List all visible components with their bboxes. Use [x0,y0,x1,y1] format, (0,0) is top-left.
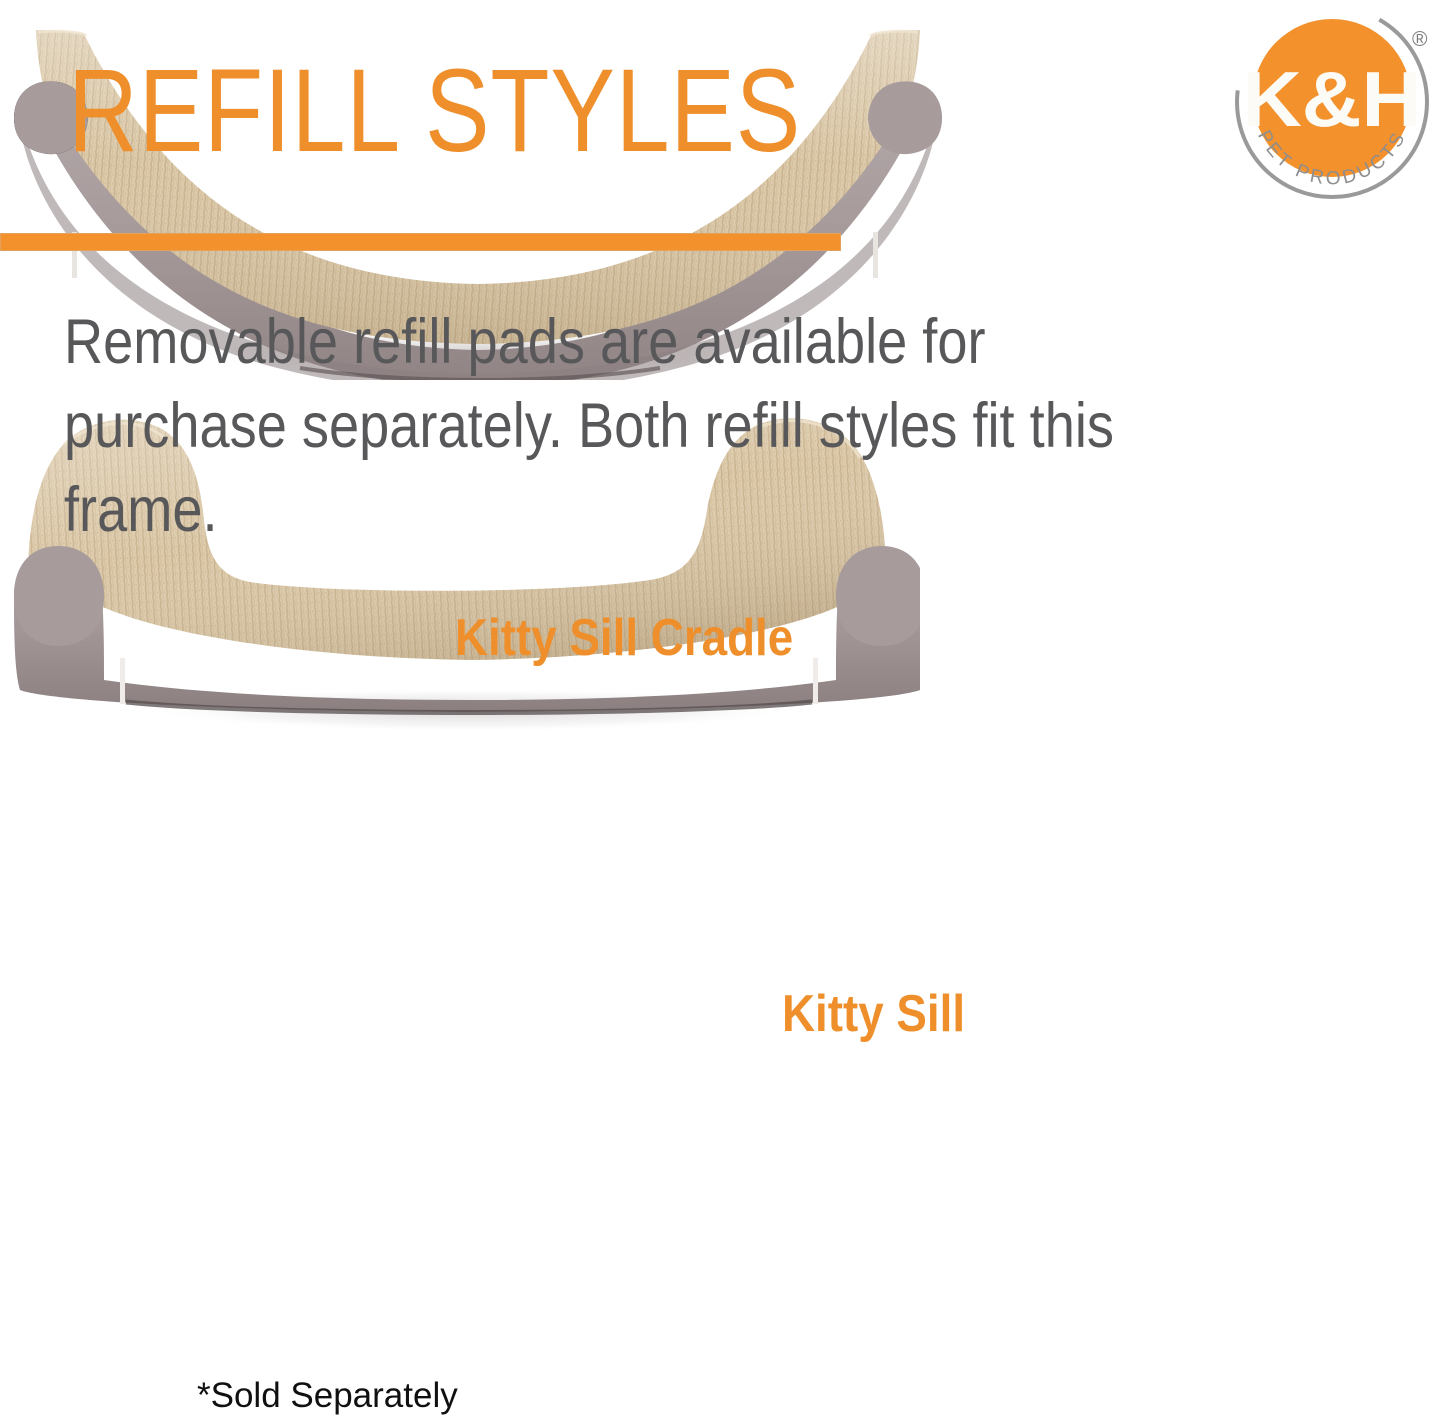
cradle-right-cap [868,81,942,154]
registered-mark-icon: ® [1412,28,1428,51]
infographic-page: REFILL STYLES K&H PET PRODUCTS ® Removab… [0,0,1445,1426]
sill-left-cap [14,546,104,646]
product-label-kitty-sill-cradle: Kitty Sill Cradle [455,612,793,664]
footnote-sold-separately: *Sold Separately [197,1376,458,1416]
product-label-kitty-sill: Kitty Sill [782,988,965,1040]
brand-logo: K&H PET PRODUCTS ® [1232,4,1432,209]
sill-notch-left [120,658,125,704]
page-title: REFILL STYLES [68,52,801,170]
title-underline-rule [0,233,841,251]
cradle-notch-right [873,232,878,278]
sill-notch-right [813,658,818,704]
body-paragraph: Removable refill pads are available for … [64,300,1156,552]
sill-right-cap [836,546,920,646]
